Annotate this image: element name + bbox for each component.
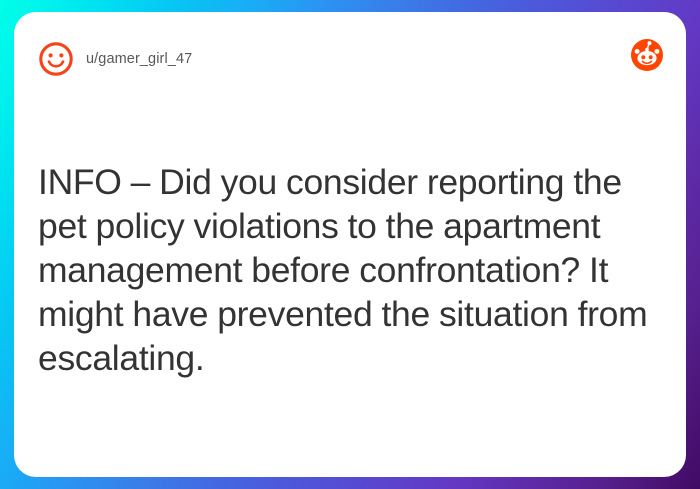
card-header: u/gamer_girl_47: [14, 12, 686, 104]
social-quote-card: u/gamer_girl_47 INFO – Did you consider …: [14, 12, 686, 477]
quote-text: INFO – Did you consider reporting the pe…: [38, 160, 664, 380]
screenshot-stage: u/gamer_girl_47 INFO – Did you consider …: [0, 0, 700, 489]
username-label: u/gamer_girl_47: [86, 41, 192, 77]
reddit-snoo-icon[interactable]: [630, 38, 664, 72]
avatar[interactable]: [38, 41, 74, 77]
